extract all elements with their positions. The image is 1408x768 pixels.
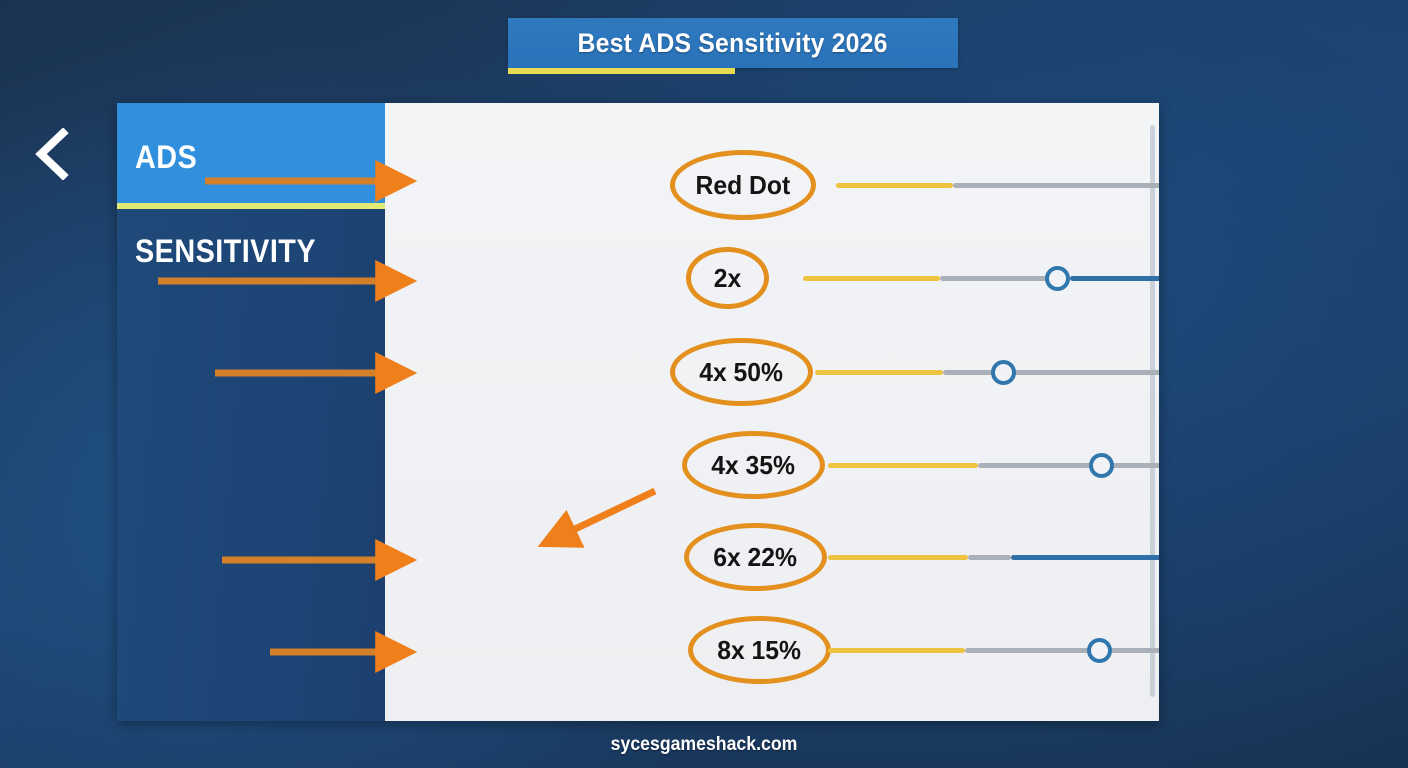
footer-watermark: sycesgameshack.com bbox=[49, 734, 1358, 756]
annotation-arrow-overlay bbox=[0, 0, 1408, 768]
